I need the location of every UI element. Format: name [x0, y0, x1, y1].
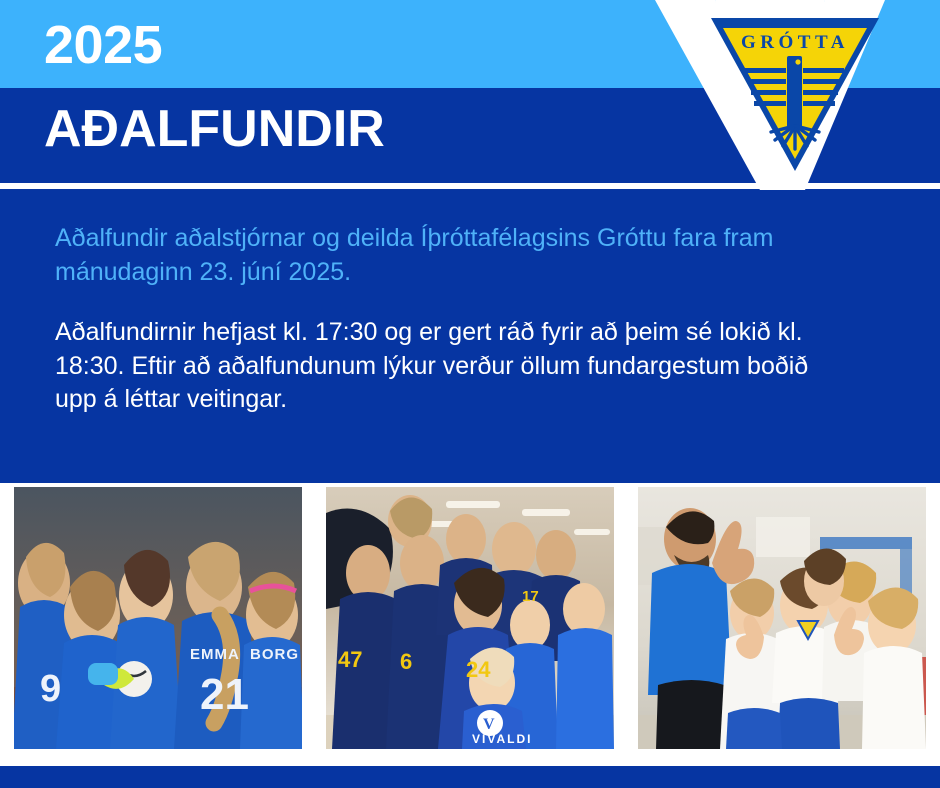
svg-text:6: 6: [400, 649, 412, 674]
poster: GRÓTTA: [0, 0, 940, 788]
svg-text:EMMA: EMMA: [190, 646, 240, 663]
paragraph-meeting-date: Aðalfundir aðalstjórnar og deilda Íþrótt…: [55, 222, 855, 289]
svg-text:47: 47: [338, 647, 362, 672]
svg-text:V: V: [483, 716, 495, 733]
svg-text:BORG: BORG: [250, 646, 299, 663]
photo-coach-with-boys-thumbs-up: [638, 487, 926, 749]
footer-blue-bar: [0, 766, 940, 788]
svg-text:VIVALDI: VIVALDI: [472, 732, 532, 746]
photo-girls-football-team: EMMA BORG 21 9: [14, 487, 302, 749]
grotta-crest-logo: GRÓTTA: [705, 12, 885, 177]
paragraph-meeting-times: Aðalfundirnir hefjast kl. 17:30 og er ge…: [55, 316, 855, 417]
photo-strip: EMMA BORG 21 9: [0, 487, 940, 752]
photo-handball-team-with-kids: 47 6 17 24 VIVALDI V: [326, 487, 614, 749]
page-title: AÐALFUNDIR: [44, 103, 385, 155]
svg-text:17: 17: [522, 588, 539, 605]
svg-text:21: 21: [200, 670, 249, 719]
logo-wordmark-text: GRÓTTA: [741, 31, 849, 53]
page-year: 2025: [44, 18, 162, 72]
svg-text:9: 9: [40, 668, 61, 710]
svg-text:24: 24: [466, 657, 491, 682]
